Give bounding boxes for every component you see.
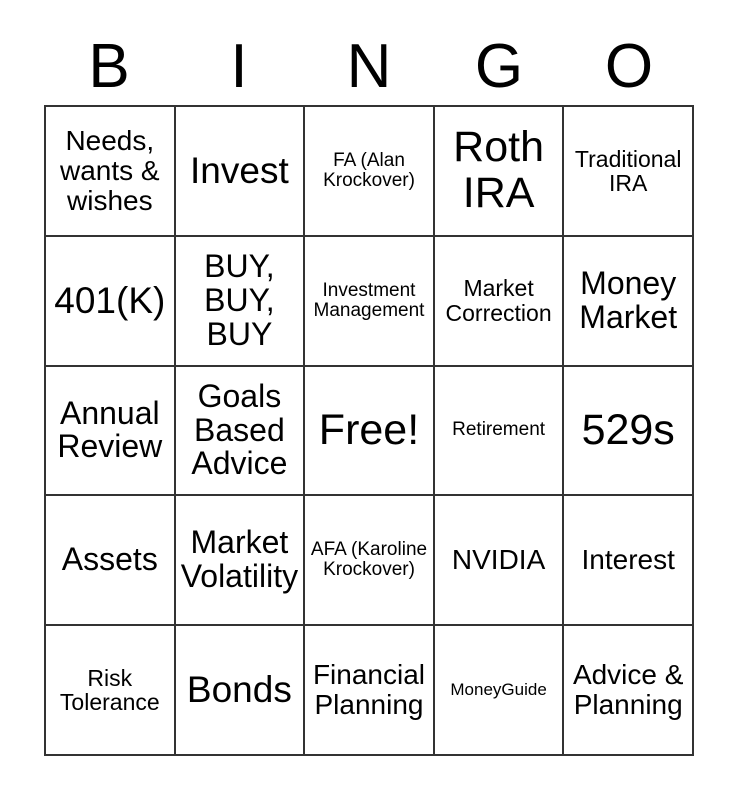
bingo-cell-r2-c1[interactable]: 401(K) [46, 237, 176, 367]
bingo-cell-label: Financial Planning [309, 660, 429, 719]
bingo-cell-r4-c4[interactable]: NVIDIA [435, 496, 565, 626]
bingo-cell-label: MoneyGuide [439, 681, 559, 699]
header-letter-b: B [44, 28, 174, 105]
bingo-card: B I N G O Needs, wants & wishesInvestFA … [0, 0, 736, 800]
bingo-cell-label: Goals Based Advice [180, 380, 300, 482]
bingo-cell-r1-c1[interactable]: Needs, wants & wishes [46, 107, 176, 237]
bingo-cell-r4-c3[interactable]: AFA (Karoline Krockover) [305, 496, 435, 626]
bingo-cell-label: BUY, BUY, BUY [180, 250, 300, 352]
bingo-cell-label: Assets [50, 543, 170, 577]
bingo-cell-label: Market Volatility [180, 526, 300, 594]
bingo-cell-label: Risk Tolerance [50, 666, 170, 715]
bingo-cell-free-space[interactable]: Free! [305, 367, 435, 497]
bingo-cell-r3-c5[interactable]: 529s [564, 367, 694, 497]
bingo-cell-r5-c5[interactable]: Advice & Planning [564, 626, 694, 756]
bingo-cell-r1-c5[interactable]: Traditional IRA [564, 107, 694, 237]
bingo-cell-label: Market Correction [439, 276, 559, 325]
bingo-cell-r2-c4[interactable]: Market Correction [435, 237, 565, 367]
bingo-cell-r2-c2[interactable]: BUY, BUY, BUY [176, 237, 306, 367]
bingo-cell-label: Traditional IRA [568, 147, 688, 196]
header-letter-g: G [434, 28, 564, 105]
bingo-cell-label: Advice & Planning [568, 660, 688, 719]
header-letter-o: O [564, 28, 694, 105]
bingo-cell-label: Invest [180, 151, 300, 190]
bingo-cell-label: NVIDIA [439, 545, 559, 575]
bingo-cell-label: Roth IRA [439, 125, 559, 216]
bingo-cell-r1-c3[interactable]: FA (Alan Krockover) [305, 107, 435, 237]
header-letter-i: I [174, 28, 304, 105]
bingo-cell-r4-c5[interactable]: Interest [564, 496, 694, 626]
bingo-cell-r1-c2[interactable]: Invest [176, 107, 306, 237]
bingo-cell-r3-c2[interactable]: Goals Based Advice [176, 367, 306, 497]
bingo-grid: Needs, wants & wishesInvestFA (Alan Kroc… [44, 105, 694, 756]
bingo-cell-label: Retirement [439, 420, 559, 440]
bingo-cell-r3-c1[interactable]: Annual Review [46, 367, 176, 497]
header-letter-n: N [304, 28, 434, 105]
bingo-cell-r5-c4[interactable]: MoneyGuide [435, 626, 565, 756]
bingo-cell-label: AFA (Karoline Krockover) [309, 540, 429, 580]
bingo-cell-label: Needs, wants & wishes [50, 126, 170, 215]
bingo-cell-label: Interest [568, 545, 688, 575]
bingo-cell-label: 529s [568, 408, 688, 454]
bingo-cell-label: Free! [309, 408, 429, 454]
bingo-cell-label: Investment Management [309, 281, 429, 321]
bingo-cell-label: Money Market [568, 267, 688, 335]
bingo-cell-label: 401(K) [50, 281, 170, 320]
bingo-cell-r5-c1[interactable]: Risk Tolerance [46, 626, 176, 756]
bingo-header-letters: B I N G O [44, 28, 694, 105]
bingo-cell-r2-c5[interactable]: Money Market [564, 237, 694, 367]
bingo-cell-label: FA (Alan Krockover) [309, 151, 429, 191]
bingo-cell-r1-c4[interactable]: Roth IRA [435, 107, 565, 237]
bingo-cell-r5-c3[interactable]: Financial Planning [305, 626, 435, 756]
bingo-cell-r4-c2[interactable]: Market Volatility [176, 496, 306, 626]
bingo-cell-r5-c2[interactable]: Bonds [176, 626, 306, 756]
bingo-cell-r2-c3[interactable]: Investment Management [305, 237, 435, 367]
bingo-cell-label: Bonds [180, 670, 300, 709]
bingo-cell-r3-c4[interactable]: Retirement [435, 367, 565, 497]
bingo-cell-label: Annual Review [50, 397, 170, 465]
bingo-cell-r4-c1[interactable]: Assets [46, 496, 176, 626]
